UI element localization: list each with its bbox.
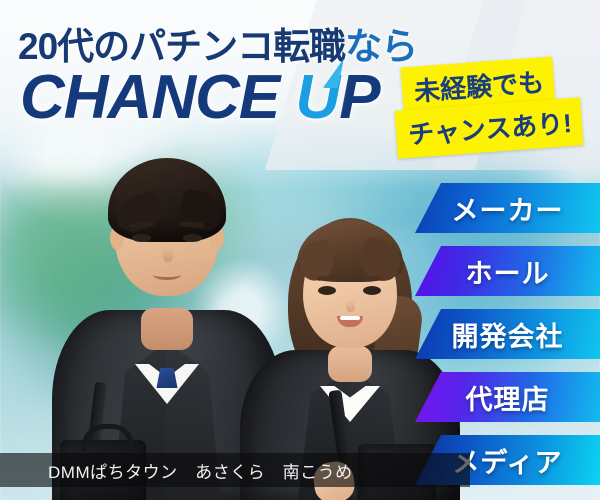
headline-tail: なら — [345, 26, 417, 67]
woman-nose — [346, 300, 355, 312]
man-hair — [108, 158, 226, 242]
category-label: 開発会社 — [452, 315, 564, 354]
credit-bar: DMMぱちタウン あさくら 南こうめ — [0, 453, 470, 487]
category-label: 代理店 — [466, 378, 550, 417]
headline-main: 20代のパチンコ転職 — [18, 26, 345, 67]
man-mouth — [153, 270, 181, 280]
woman-bangs — [297, 220, 403, 282]
logo-u-letter: U — [295, 62, 339, 133]
woman-eye-right — [363, 286, 381, 295]
category-label: ホール — [466, 252, 550, 291]
man-neck — [141, 308, 193, 350]
woman-neck — [328, 346, 372, 382]
man-eye-left — [132, 234, 151, 242]
category-button-agency[interactable]: 代理店 — [415, 372, 600, 422]
credit-text: DMMぱちタウン あさくら 南こうめ — [0, 458, 353, 483]
category-button-development-company[interactable]: 開発会社 — [415, 309, 600, 359]
woman-eye-left — [318, 286, 336, 295]
recruitment-banner: 20代のパチンコ転職なら CHANCE UP 未経験でも チャンスあり! — [0, 0, 600, 500]
man-eye-right — [183, 234, 202, 242]
category-label: メーカー — [452, 189, 564, 228]
logo-part2: P — [339, 63, 379, 132]
logo-part1: CHANCE — [20, 63, 295, 132]
man-nose — [163, 248, 173, 262]
category-button-maker[interactable]: メーカー — [415, 183, 600, 233]
logo-chance-up: CHANCE UP — [20, 62, 380, 133]
category-button-hall[interactable]: ホール — [415, 246, 600, 296]
